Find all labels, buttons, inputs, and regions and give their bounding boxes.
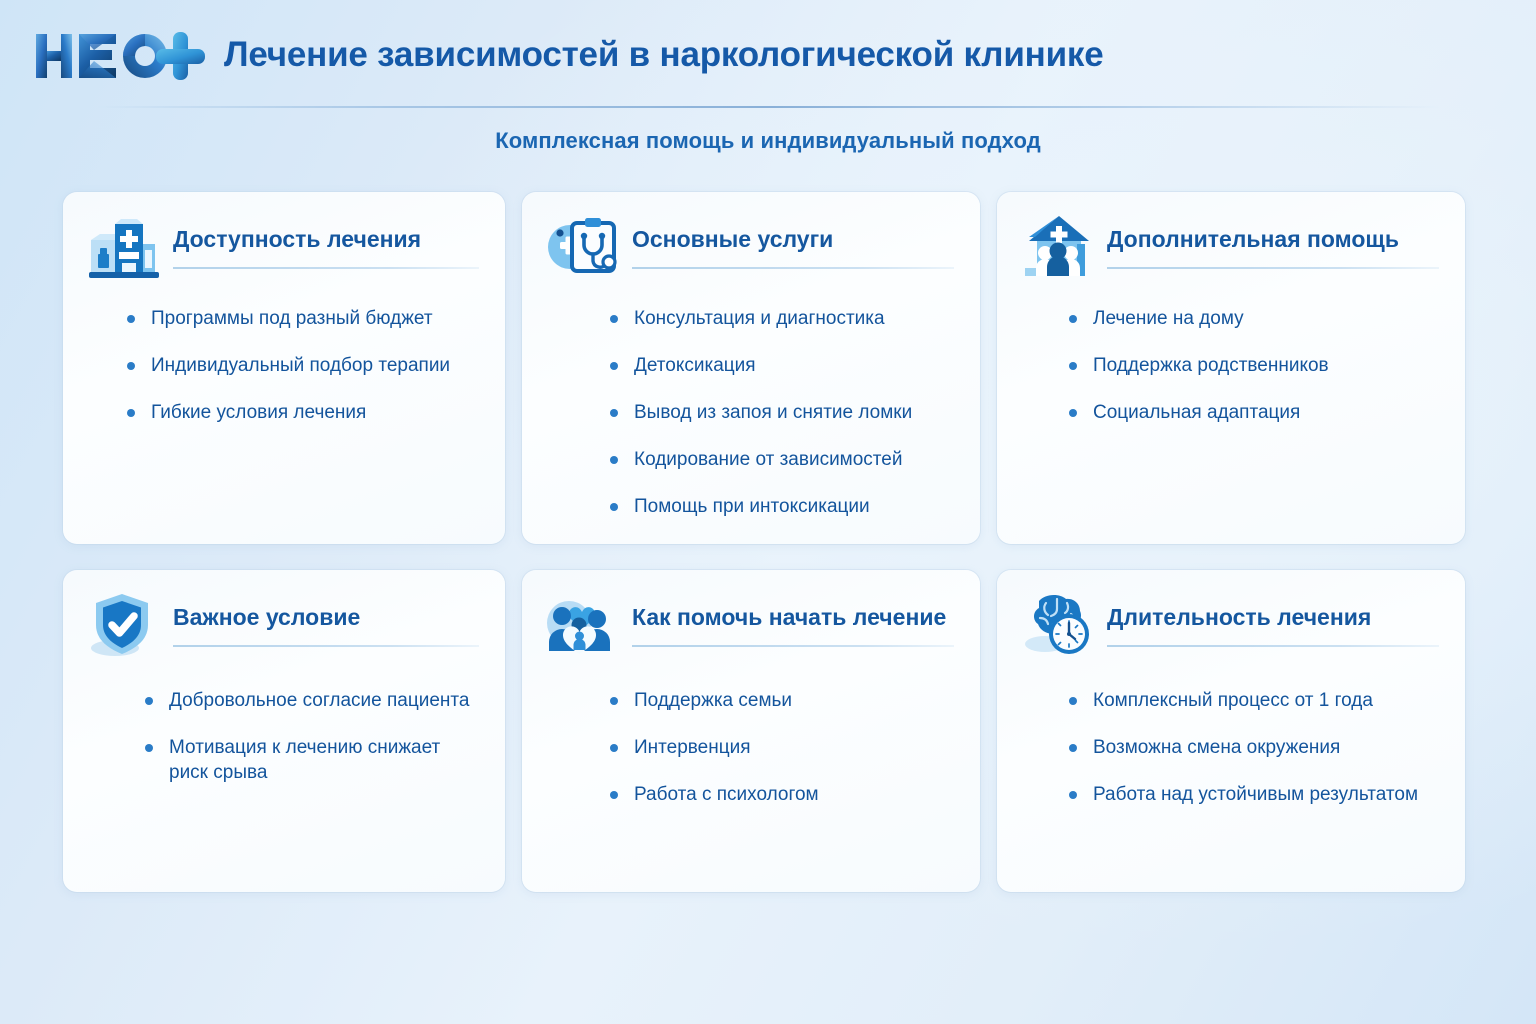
logo-letter-e xyxy=(79,34,116,78)
card-head-text: Основные услуги xyxy=(632,214,954,269)
list-item: Гибкие условия лечения xyxy=(127,400,479,425)
list-item: Кодирование от зависимостей xyxy=(610,447,954,472)
brain-clock-icon xyxy=(1019,592,1095,658)
card-head-text: Доступность лечения xyxy=(173,214,479,269)
card-header: Доступность лечения xyxy=(85,214,479,280)
list-item: Индивидуальный подбор терапии xyxy=(127,353,479,378)
list-item: Интервенция xyxy=(610,735,954,760)
card-title-rule xyxy=(1107,645,1439,647)
card-kak-pomoch-nachat-lechenie[interactable]: Как помочь начать лечение Поддержка семь… xyxy=(522,570,980,892)
page-subtitle: Комплексная помощь и индивидуальный подх… xyxy=(0,128,1536,154)
page-title: Лечение зависимостей в наркологической к… xyxy=(224,37,1104,75)
card-header: Длительность лечения xyxy=(1019,592,1439,658)
list-item: Работа над устойчивым результатом xyxy=(1069,782,1439,807)
card-title-rule xyxy=(632,267,954,269)
list-item: Помощь при интоксикации xyxy=(610,494,954,519)
card-title: Длительность лечения xyxy=(1107,605,1439,630)
logo-plus-icon xyxy=(156,32,205,80)
card-title: Доступность лечения xyxy=(173,227,479,252)
card-bullet-list: Добровольное согласие пациента Мотивация… xyxy=(85,688,479,785)
list-item: Консультация и диагностика xyxy=(610,306,954,331)
card-title-rule xyxy=(1107,267,1439,269)
list-item: Программы под разный бюджет xyxy=(127,306,479,331)
header-row: Лечение зависимостей в наркологической к… xyxy=(34,28,1104,84)
card-head-text: Важное условие xyxy=(173,592,479,647)
house-family-cross-icon xyxy=(1019,214,1095,280)
card-dostupnost-lecheniya[interactable]: Доступность лечения Программы под разный… xyxy=(63,192,505,544)
card-title-rule xyxy=(173,267,479,269)
card-vazhnoe-uslovie[interactable]: Важное условие Добровольное согласие пац… xyxy=(63,570,505,892)
card-title: Основные услуги xyxy=(632,227,954,252)
list-item: Возможна смена окружения xyxy=(1069,735,1439,760)
card-bullet-list: Консультация и диагностика Детоксикация … xyxy=(544,306,954,519)
list-item: Поддержка семьи xyxy=(610,688,954,713)
list-item: Социальная адаптация xyxy=(1069,400,1439,425)
shield-check-icon xyxy=(85,592,161,658)
list-item: Комплексный процесс от 1 года xyxy=(1069,688,1439,713)
header-divider xyxy=(96,106,1440,108)
card-title-rule xyxy=(173,645,479,647)
list-item: Лечение на дому xyxy=(1069,306,1439,331)
card-head-text: Как помочь начать лечение xyxy=(632,592,954,647)
card-header: Дополнительная помощь xyxy=(1019,214,1439,280)
clipboard-stethoscope-icon xyxy=(544,214,620,280)
card-title: Важное условие xyxy=(173,605,479,630)
cards-grid: Доступность лечения Программы под разный… xyxy=(63,192,1473,892)
neo-plus-logo xyxy=(34,28,206,84)
family-heart-icon xyxy=(544,592,620,658)
card-bullet-list: Поддержка семьи Интервенция Работа с пси… xyxy=(544,688,954,807)
card-title: Как помочь начать лечение xyxy=(632,605,954,630)
card-header: Основные услуги xyxy=(544,214,954,280)
card-header: Как помочь начать лечение xyxy=(544,592,954,658)
card-title: Дополнительная помощь xyxy=(1107,227,1439,252)
card-header: Важное условие xyxy=(85,592,479,658)
card-osnovnye-uslugi[interactable]: Основные услуги Консультация и диагности… xyxy=(522,192,980,544)
list-item: Вывод из запоя и снятие ломки xyxy=(610,400,954,425)
card-dopolnitelnaya-pomoshch[interactable]: Дополнительная помощь Лечение на дому По… xyxy=(997,192,1465,544)
list-item: Детоксикация xyxy=(610,353,954,378)
list-item: Добровольное согласие пациента xyxy=(145,688,479,713)
page-header: Лечение зависимостей в наркологической к… xyxy=(0,0,1536,118)
list-item: Работа с психологом xyxy=(610,782,954,807)
hospital-building-icon xyxy=(85,214,161,280)
list-item: Поддержка родственников xyxy=(1069,353,1439,378)
card-bullet-list: Комплексный процесс от 1 года Возможна с… xyxy=(1019,688,1439,807)
card-bullet-list: Программы под разный бюджет Индивидуальн… xyxy=(85,306,479,425)
card-head-text: Длительность лечения xyxy=(1107,592,1439,647)
card-head-text: Дополнительная помощь xyxy=(1107,214,1439,269)
card-bullet-list: Лечение на дому Поддержка родственников … xyxy=(1019,306,1439,425)
logo-letter-h xyxy=(36,34,72,78)
card-dlitelnost-lecheniya[interactable]: Длительность лечения Комплексный процесс… xyxy=(997,570,1465,892)
card-title-rule xyxy=(632,645,954,647)
list-item: Мотивация к лечению снижает риск срыва xyxy=(145,735,479,785)
